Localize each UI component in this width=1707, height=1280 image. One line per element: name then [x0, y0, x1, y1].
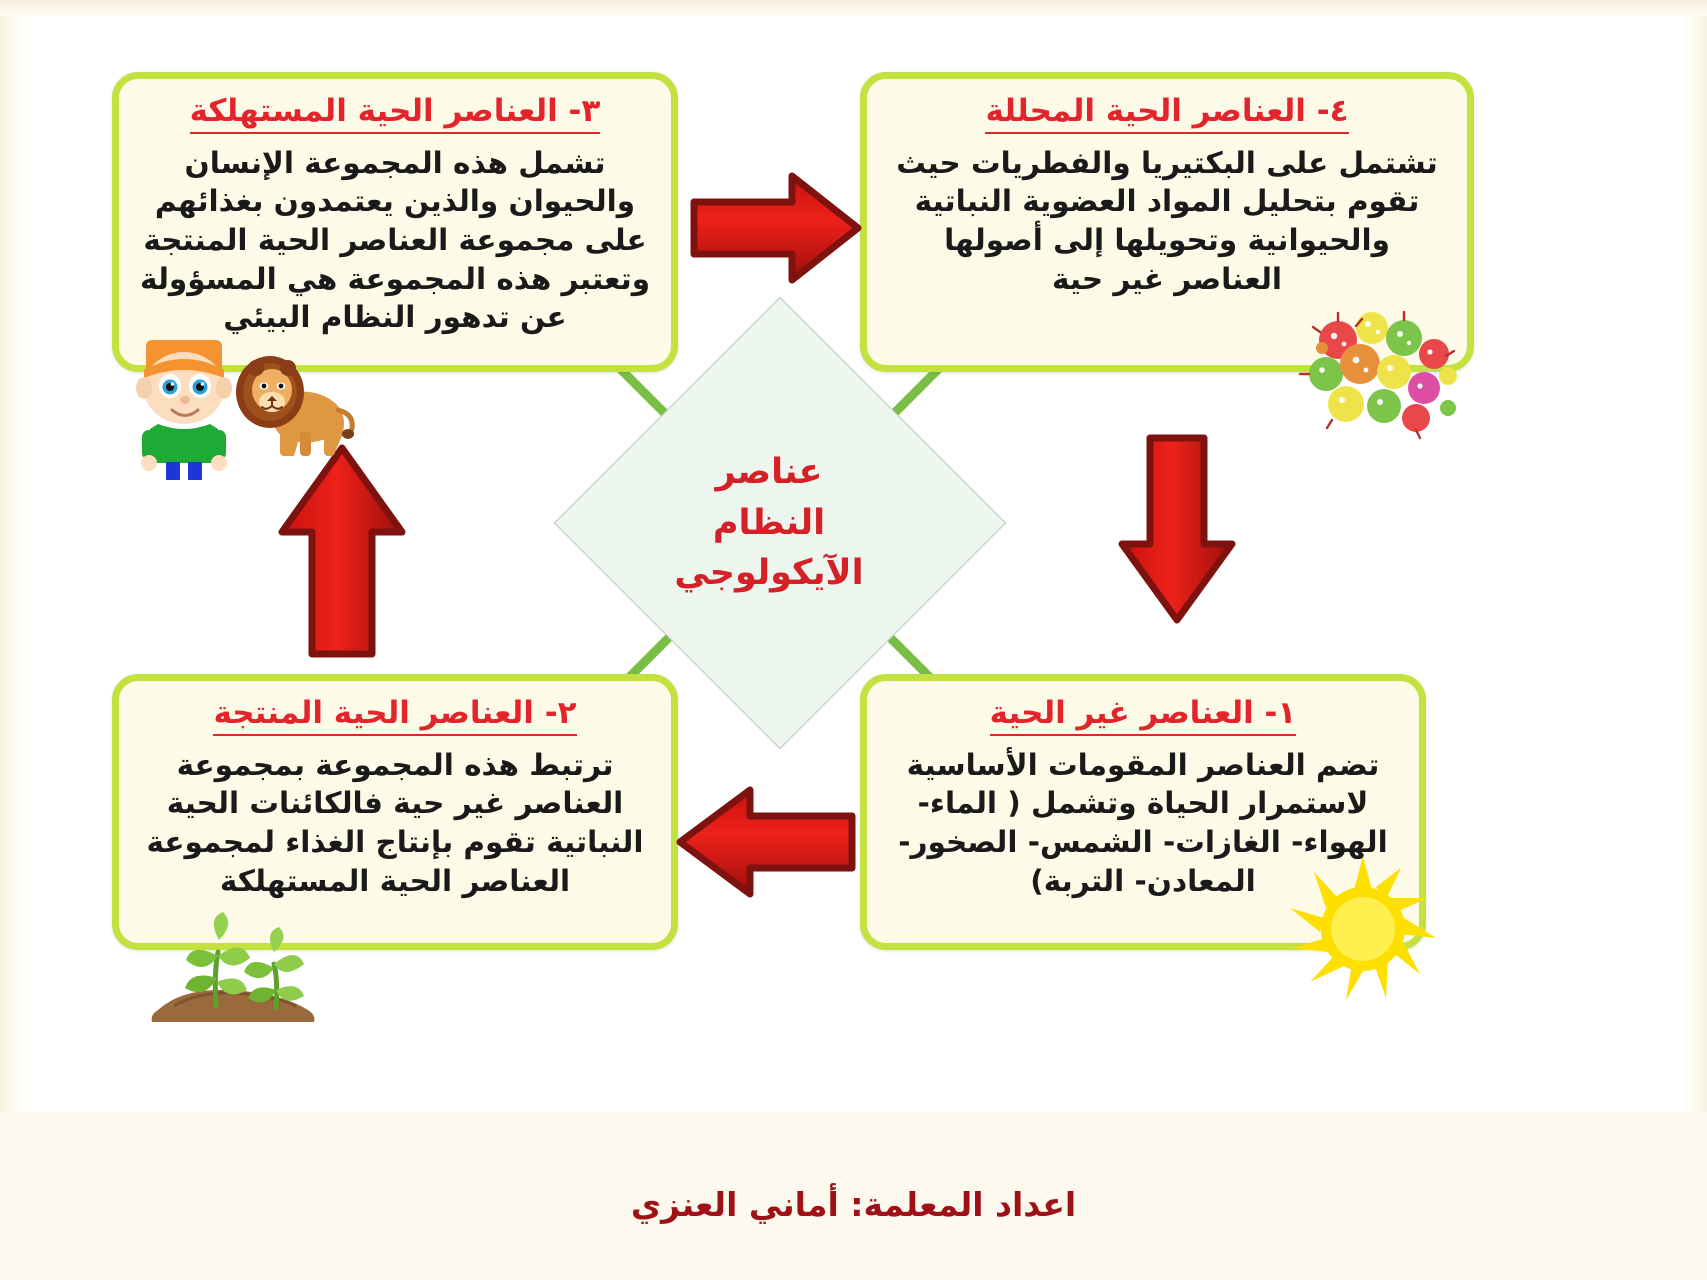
box-consumers-body: تشمل هذه المجموعة الإنسان والحيوان والذي… — [139, 144, 651, 337]
diamond-label: عناصر النظام الآيكولوجي — [620, 363, 940, 683]
diamond-label-line-1: عناصر — [716, 454, 823, 491]
box-producers-title: ٢- العناصر الحية المنتجة — [213, 695, 576, 736]
diamond-label-line-3: الآيكولوجي — [674, 555, 863, 592]
diamond-label-line-2: النظام — [713, 505, 825, 542]
teacher-credit: اعداد المعلمة: أماني العنزي — [0, 1185, 1707, 1224]
arrow-nonliving-to-producers — [672, 782, 858, 902]
box-producers-body: ترتبط هذه المجموعة بمجموعة العناصر غير ح… — [139, 746, 651, 901]
box-consumers[interactable]: ٣- العناصر الحية المستهلكة تشمل هذه المج… — [112, 72, 678, 372]
sun-illustration — [1288, 854, 1438, 1004]
boy-illustration — [128, 330, 240, 480]
diagram-canvas: عناصر النظام الآيكولوجي ٣- العناصر الحية… — [0, 0, 1707, 1115]
box-decomposers-title: ٤- العناصر الحية المحللة — [985, 93, 1348, 134]
box-consumers-title: ٣- العناصر الحية المستهلكة — [190, 93, 601, 134]
center-diamond: عناصر النظام الآيكولوجي — [620, 363, 940, 683]
lion-illustration — [228, 336, 356, 464]
bacteria-illustration — [1296, 300, 1464, 440]
box-nonliving-title: ١- العناصر غير الحية — [990, 695, 1297, 736]
page-background: عناصر النظام الآيكولوجي ٣- العناصر الحية… — [0, 0, 1707, 1280]
arrow-decomposers-to-nonliving — [1112, 432, 1242, 628]
seedling-illustration — [148, 898, 348, 1028]
arrow-producers-to-consumers — [272, 440, 412, 662]
arrow-consumers-to-decomposers — [688, 168, 864, 288]
box-decomposers-body: تشتمل على البكتيريا والفطريات حيث تقوم ب… — [887, 144, 1447, 299]
